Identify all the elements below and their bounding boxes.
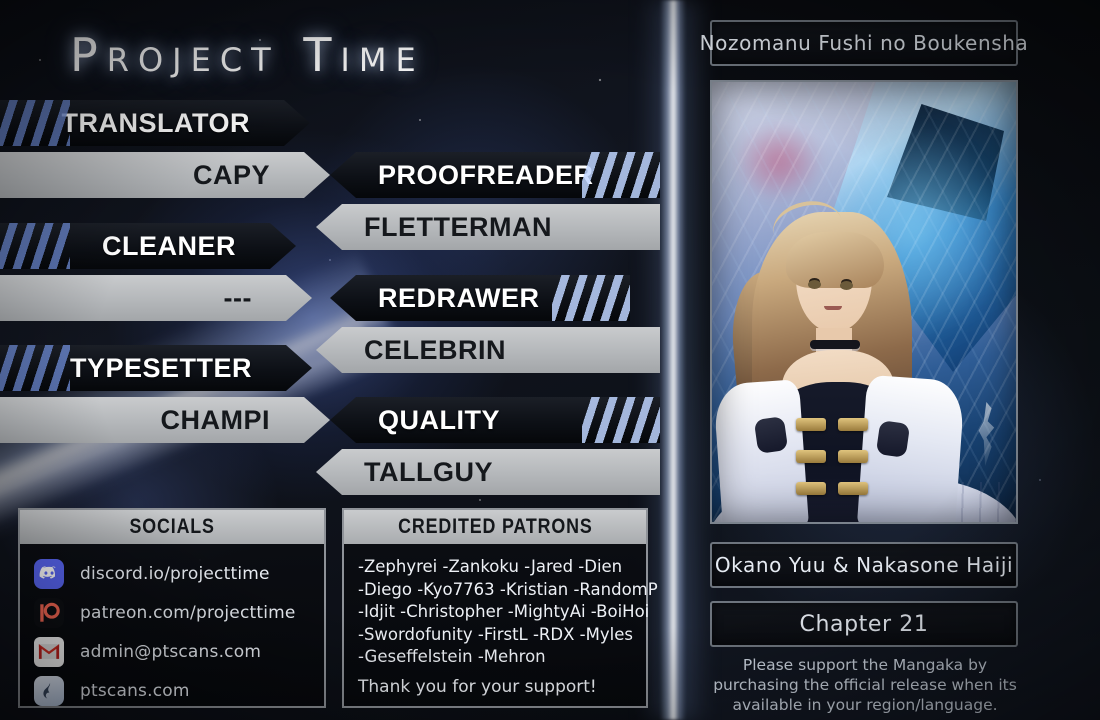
name-label: --- bbox=[224, 283, 252, 313]
cover-vignette bbox=[712, 82, 1016, 522]
role-bar-quality: QUALITY bbox=[330, 397, 660, 443]
credit-row-quality: QUALITY bbox=[330, 397, 660, 443]
name-label: FLETTERMAN bbox=[364, 212, 552, 242]
name-bar-cleaner: --- bbox=[0, 275, 312, 321]
name-bar-proofreader: FLETTERMAN bbox=[316, 204, 660, 250]
credits-section: TRANSLATOR CAPY CLEANER --- TYPESETTER bbox=[0, 100, 660, 500]
name-bar-quality: TALLGUY bbox=[316, 449, 660, 495]
authors-label: Okano Yuu & Nakasone Haiji bbox=[715, 553, 1013, 577]
patron-line: -Idjit -Christopher -MightyAi -BoiHoi bbox=[358, 601, 634, 624]
patreon-icon bbox=[34, 598, 64, 628]
patron-line: -Diego -Kyo7763 -Kristian -RandomP bbox=[358, 579, 634, 602]
credit-row-typesetter: TYPESETTER bbox=[0, 345, 330, 391]
credit-row-redrawer: REDRAWER bbox=[330, 275, 630, 321]
credit-row-redrawer-name: CELEBRIN bbox=[316, 327, 660, 373]
series-title-box: Nozomanu Fushi no Boukensha bbox=[710, 20, 1018, 66]
stripe-decoration bbox=[0, 345, 70, 391]
stripe-decoration bbox=[0, 223, 70, 269]
stripe-decoration bbox=[582, 152, 660, 198]
stripe-decoration bbox=[552, 275, 630, 321]
chapter-label: Chapter 21 bbox=[800, 612, 929, 637]
credit-row-proofreader: PROOFREADER bbox=[330, 152, 660, 198]
role-bar-typesetter: TYPESETTER bbox=[0, 345, 312, 391]
cover-art bbox=[712, 82, 1016, 522]
name-bar-translator: CAPY bbox=[0, 152, 330, 198]
socials-heading-text: SOCIALS bbox=[129, 515, 214, 539]
discord-icon bbox=[34, 559, 64, 589]
patron-line: -Swordofunity -FirstL -RDX -Myles bbox=[358, 624, 634, 647]
authors-box: Okano Yuu & Nakasone Haiji bbox=[710, 542, 1018, 588]
credit-row-proofreader-name: FLETTERMAN bbox=[316, 204, 660, 250]
role-label: CLEANER bbox=[102, 231, 236, 261]
name-bar-redrawer: CELEBRIN bbox=[316, 327, 660, 373]
name-label: CHAMPI bbox=[161, 405, 271, 435]
credit-row-typesetter-name: CHAMPI bbox=[0, 397, 350, 443]
socials-box: SOCIALS discord.io/projecttime patreon.c… bbox=[18, 508, 326, 708]
social-link-text: admin@ptscans.com bbox=[80, 642, 261, 662]
patron-line: -Geseffelstein -Mehron bbox=[358, 646, 634, 669]
patrons-box: CREDITED PATRONS -Zephyrei -Zankoku -Jar… bbox=[342, 508, 648, 708]
role-label: TYPESETTER bbox=[70, 353, 252, 383]
role-bar-redrawer: REDRAWER bbox=[330, 275, 630, 321]
credit-row-translator: TRANSLATOR bbox=[0, 100, 330, 146]
role-label: QUALITY bbox=[378, 405, 500, 435]
stripe-decoration bbox=[0, 100, 70, 146]
name-bar-typesetter: CHAMPI bbox=[0, 397, 330, 443]
support-note: Please support the Mangaka by purchasing… bbox=[700, 655, 1030, 715]
patrons-heading: CREDITED PATRONS bbox=[344, 510, 646, 544]
role-bar-translator: TRANSLATOR bbox=[0, 100, 310, 146]
credit-row-cleaner-name: --- bbox=[0, 275, 330, 321]
cover-art-frame bbox=[710, 80, 1018, 524]
gmail-icon bbox=[34, 637, 64, 667]
patrons-thanks: Thank you for your support! bbox=[358, 677, 634, 697]
name-label: TALLGUY bbox=[364, 457, 493, 487]
role-label: TRANSLATOR bbox=[62, 108, 251, 138]
page-title: Project Time bbox=[70, 24, 610, 86]
name-label: CAPY bbox=[193, 160, 270, 190]
role-label: REDRAWER bbox=[378, 283, 540, 313]
social-link-text: patreon.com/projecttime bbox=[80, 603, 296, 623]
role-bar-proofreader: PROOFREADER bbox=[330, 152, 660, 198]
role-bar-cleaner: CLEANER bbox=[0, 223, 296, 269]
role-label: PROOFREADER bbox=[378, 160, 594, 190]
social-link-website[interactable]: ptscans.com bbox=[34, 671, 324, 710]
chapter-box[interactable]: Chapter 21 bbox=[710, 601, 1018, 647]
social-link-gmail[interactable]: admin@ptscans.com bbox=[34, 632, 324, 671]
credit-row-cleaner: CLEANER bbox=[0, 223, 310, 269]
stripe-decoration bbox=[582, 397, 660, 443]
series-title: Nozomanu Fushi no Boukensha bbox=[700, 31, 1029, 55]
patron-line: -Zephyrei -Zankoku -Jared -Dien bbox=[358, 556, 634, 579]
name-label: CELEBRIN bbox=[364, 335, 506, 365]
vertical-divider-beam bbox=[660, 0, 686, 720]
patrons-list: -Zephyrei -Zankoku -Jared -Dien -Diego -… bbox=[344, 544, 646, 697]
website-icon bbox=[34, 676, 64, 706]
credits-page: Project Time TRANSLATOR CAPY CLEANER --- bbox=[0, 0, 1100, 720]
social-link-text: discord.io/projecttime bbox=[80, 564, 270, 584]
patrons-heading-text: CREDITED PATRONS bbox=[398, 515, 592, 539]
socials-list: discord.io/projecttime patreon.com/proje… bbox=[20, 544, 324, 710]
social-link-text: ptscans.com bbox=[80, 681, 190, 701]
social-link-patreon[interactable]: patreon.com/projecttime bbox=[34, 593, 324, 632]
credit-row-translator-name: CAPY bbox=[0, 152, 350, 198]
socials-heading: SOCIALS bbox=[20, 510, 324, 544]
social-link-discord[interactable]: discord.io/projecttime bbox=[34, 554, 324, 593]
credit-row-quality-name: TALLGUY bbox=[316, 449, 660, 495]
